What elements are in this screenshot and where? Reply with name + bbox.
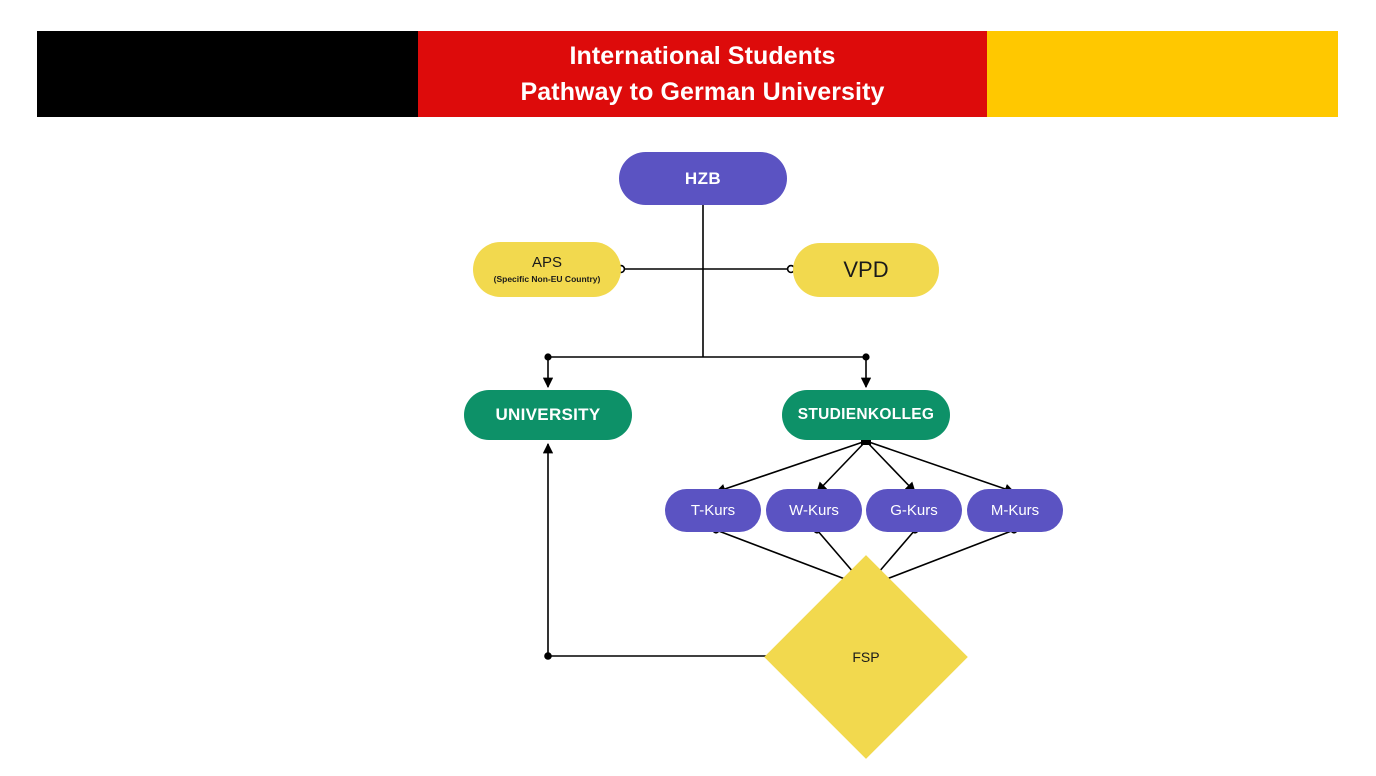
- node-vpd[interactable]: VPD: [793, 243, 939, 297]
- junction-dot-university: [544, 353, 551, 360]
- node-fsp[interactable]: FSP: [794, 585, 938, 729]
- node-aps-sublabel: (Specific Non-EU Country): [494, 274, 601, 284]
- node-w-kurs-label: W-Kurs: [789, 502, 839, 519]
- node-fsp-label: FSP: [852, 649, 879, 665]
- connector-studienkolleg-to-t-kurs: [716, 441, 866, 492]
- node-m-kurs[interactable]: M-Kurs: [967, 489, 1063, 532]
- node-t-kurs-label: T-Kurs: [691, 502, 735, 519]
- node-g-kurs-label: G-Kurs: [890, 502, 938, 519]
- node-university-label: UNIVERSITY: [495, 405, 600, 425]
- node-studienkolleg-label: STUDIENKOLLEG: [798, 406, 935, 424]
- node-hzb-label: HZB: [685, 169, 721, 189]
- node-w-kurs[interactable]: W-Kurs: [766, 489, 862, 532]
- node-university[interactable]: UNIVERSITY: [464, 390, 632, 440]
- node-vpd-label: VPD: [843, 257, 888, 283]
- connector-dot-feedback-corner: [544, 652, 552, 660]
- node-studienkolleg[interactable]: STUDIENKOLLEG: [782, 390, 950, 440]
- connector-fsp-to-university: [548, 444, 790, 656]
- node-g-kurs[interactable]: G-Kurs: [866, 489, 962, 532]
- node-hzb[interactable]: HZB: [619, 152, 787, 205]
- junction-dot-studienkolleg: [862, 353, 869, 360]
- node-aps-label: APS: [532, 255, 562, 272]
- connector-studienkolleg-to-m-kurs: [866, 441, 1014, 492]
- node-t-kurs[interactable]: T-Kurs: [665, 489, 761, 532]
- pathway-flowchart: HZB APS (Specific Non-EU Country) VPD UN…: [0, 0, 1376, 776]
- connector-layer: [0, 0, 1376, 776]
- node-m-kurs-label: M-Kurs: [991, 502, 1039, 519]
- node-aps[interactable]: APS (Specific Non-EU Country): [473, 242, 621, 297]
